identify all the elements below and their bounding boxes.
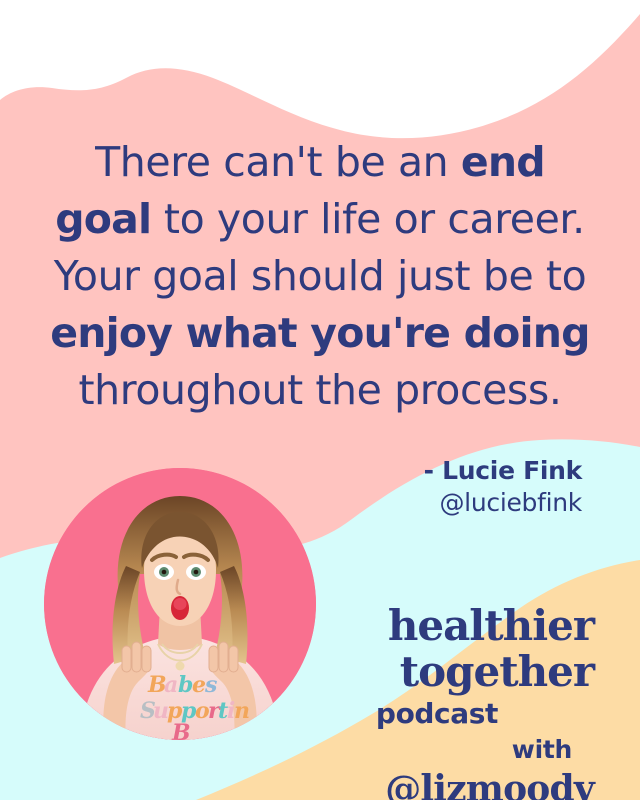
- brand-title-line-1: healthier: [376, 604, 594, 648]
- quote-seg: to your life or career.: [151, 195, 585, 243]
- quote-seg-bold: end: [461, 138, 545, 186]
- quote-line-5: throughout the process.: [20, 362, 620, 419]
- podcast-branding: healthier together podcast with @lizmood…: [376, 604, 594, 800]
- quote-text: There can't be an end goal to your life …: [20, 134, 620, 419]
- quote-line-1: There can't be an end: [20, 134, 620, 191]
- quote-seg-bold: goal: [55, 195, 151, 243]
- podcast-quote-card: There can't be an end goal to your life …: [0, 0, 640, 800]
- quote-seg-bold: enjoy what you're doing: [50, 309, 589, 357]
- guest-handle: @luciebfink: [424, 487, 582, 519]
- quote-line-3: Your goal should just be to: [20, 248, 620, 305]
- quote-seg: Your goal should just be to: [54, 252, 587, 300]
- quote-seg: There can't be an: [95, 138, 461, 186]
- brand-podcast-label: podcast: [376, 695, 498, 733]
- quote-line-2: goal to your life or career.: [20, 191, 620, 248]
- host-handle: @lizmoody: [376, 767, 594, 800]
- svg-text:n: n: [234, 698, 250, 724]
- quote-attribution: - Lucie Fink @luciebfink: [424, 455, 582, 519]
- quote-seg: throughout the process.: [79, 366, 562, 414]
- svg-text:e: e: [192, 672, 206, 698]
- guest-name: - Lucie Fink: [424, 455, 582, 487]
- svg-text:a: a: [164, 672, 178, 698]
- svg-text:B: B: [171, 720, 191, 740]
- guest-photo: B a b e s S u p p o r t i n B: [44, 468, 316, 740]
- svg-text:s: s: [204, 672, 217, 698]
- brand-with-label: with: [376, 733, 572, 767]
- brand-title-line-2: together: [376, 648, 594, 695]
- quote-line-4: enjoy what you're doing: [20, 305, 620, 362]
- guest-photo-illustration: B a b e s S u p p o r t i n B: [44, 468, 316, 740]
